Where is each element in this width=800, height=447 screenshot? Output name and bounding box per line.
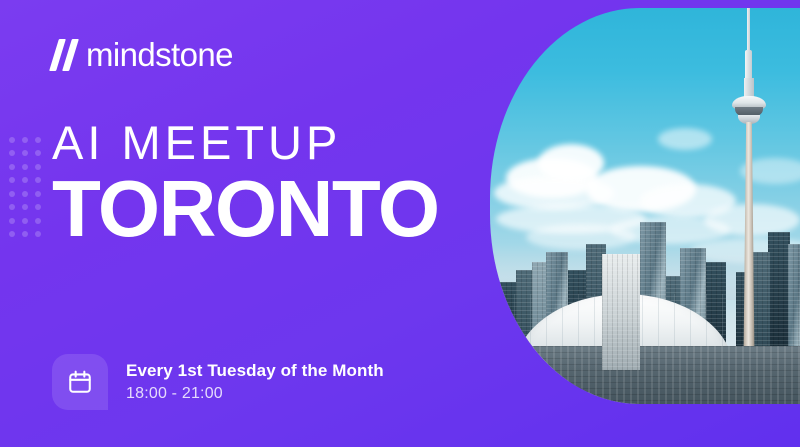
grid-dot <box>35 218 41 224</box>
toronto-skyline-photo: ROGERS CENTRE <box>490 8 800 404</box>
grid-dot <box>22 164 28 170</box>
schedule-time-range: 18:00 - 21:00 <box>126 383 384 405</box>
calendar-badge <box>52 354 108 410</box>
foreground-tower <box>602 254 640 370</box>
grid-dot <box>22 218 28 224</box>
window-texture <box>490 346 800 404</box>
event-banner: ROGERS CENTRE mindstone AI MEETUP TORONT… <box>0 0 800 447</box>
grid-dot <box>35 137 41 143</box>
schedule-recurrence: Every 1st Tuesday of the Month <box>126 360 384 383</box>
grid-dot <box>9 177 15 183</box>
mindstone-logo[interactable]: mindstone <box>52 38 233 71</box>
cloud <box>658 128 712 150</box>
grid-dot <box>9 137 15 143</box>
grid-dot <box>35 164 41 170</box>
grid-dot <box>22 204 28 210</box>
grid-dot <box>9 231 15 237</box>
grid-dot <box>22 231 28 237</box>
event-kicker: AI MEETUP <box>52 118 439 167</box>
dot-grid-decoration <box>6 133 44 241</box>
grid-dot <box>22 137 28 143</box>
grid-dot <box>35 231 41 237</box>
headline-block: AI MEETUP TORONTO <box>52 118 439 249</box>
grid-dot <box>22 191 28 197</box>
waterfront-foreground <box>490 346 800 404</box>
grid-dot <box>35 204 41 210</box>
grid-dot <box>35 177 41 183</box>
event-city: TORONTO <box>52 169 439 249</box>
grid-dot <box>22 150 28 156</box>
schedule-text: Every 1st Tuesday of the Month 18:00 - 2… <box>126 360 384 405</box>
grid-dot <box>22 177 28 183</box>
schedule-bar: Every 1st Tuesday of the Month 18:00 - 2… <box>52 354 384 410</box>
grid-dot <box>9 218 15 224</box>
grid-dot <box>9 191 15 197</box>
calendar-icon <box>67 369 93 395</box>
logo-wordmark: mindstone <box>86 38 233 71</box>
grid-dot <box>9 150 15 156</box>
grid-dot <box>9 204 15 210</box>
grid-dot <box>35 150 41 156</box>
grid-dot <box>9 164 15 170</box>
grid-dot <box>35 191 41 197</box>
double-slash-icon <box>52 39 80 71</box>
window-texture <box>602 254 640 370</box>
